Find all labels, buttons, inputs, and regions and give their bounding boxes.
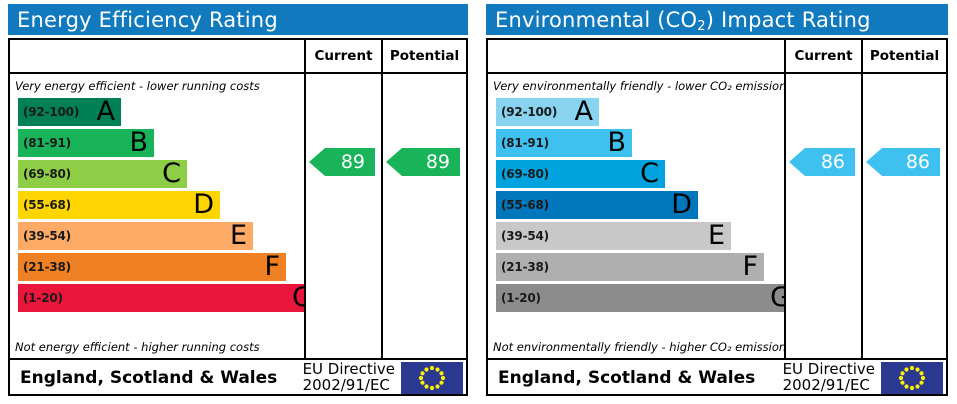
energy-column-header-potential: Potential bbox=[381, 40, 466, 72]
band-g-range: (1-20) bbox=[18, 291, 63, 305]
band-a: (92-100) A bbox=[18, 98, 121, 126]
band-f-range: (21-38) bbox=[18, 260, 71, 274]
band-d: (55-68) D bbox=[18, 191, 220, 219]
co2-band-g-letter: G bbox=[770, 284, 784, 311]
co2-band-c-letter: C bbox=[640, 160, 659, 187]
co2-band-d: (55-68) D bbox=[496, 191, 698, 219]
co2-caption-bottom: Not environmentally friendly - higher CO… bbox=[488, 340, 784, 354]
eu-flag-icon bbox=[401, 362, 463, 394]
co2-band-a-range: (92-100) bbox=[496, 105, 557, 119]
band-g-letter: G bbox=[292, 284, 304, 311]
energy-caption-bottom: Not energy efficient - higher running co… bbox=[10, 340, 260, 354]
band-e-letter: E bbox=[230, 222, 247, 249]
energy-caption-top: Very energy efficient - lower running co… bbox=[10, 79, 260, 93]
co2-band-b-range: (81-91) bbox=[496, 136, 549, 150]
energy-current-value-column: 89 bbox=[304, 74, 381, 358]
band-b-range: (81-91) bbox=[18, 136, 71, 150]
co2-chart-title-bar: Environmental (CO2) Impact Rating bbox=[486, 4, 948, 35]
band-c-range: (69-80) bbox=[18, 167, 71, 181]
energy-header-blank-cell bbox=[10, 40, 304, 72]
band-d-letter: D bbox=[193, 191, 214, 218]
energy-column-header-current: Current bbox=[304, 40, 381, 72]
band-e-range: (39-54) bbox=[18, 229, 71, 243]
co2-band-f-letter: F bbox=[742, 253, 758, 280]
co2-footer-directive: EU Directive 2002/91/EC bbox=[783, 362, 881, 394]
co2-potential-value-column: 86 bbox=[861, 74, 946, 358]
co2-column-header-potential: Potential bbox=[861, 40, 946, 72]
co2-band-e-range: (39-54) bbox=[496, 229, 549, 243]
energy-potential-rating-arrow: 89 bbox=[386, 148, 460, 176]
energy-efficiency-rating-chart: Energy Efficiency Rating Current Potenti… bbox=[0, 0, 478, 404]
co2-potential-rating-value: 86 bbox=[906, 153, 930, 172]
environmental-co2-impact-rating-chart: Environmental (CO2) Impact Rating Curren… bbox=[478, 0, 957, 404]
co2-chart-frame: Current Potential Very environmentally f… bbox=[486, 38, 948, 396]
band-f: (21-38) F bbox=[18, 253, 286, 281]
co2-band-a: (92-100) A bbox=[496, 98, 599, 126]
band-e: (39-54) E bbox=[18, 222, 253, 250]
co2-column-header-current: Current bbox=[784, 40, 861, 72]
co2-band-c-range: (69-80) bbox=[496, 167, 549, 181]
co2-page-title: Environmental (CO2) Impact Rating bbox=[495, 8, 871, 32]
energy-chart-frame: Current Potential Very energy efficient … bbox=[8, 38, 468, 396]
energy-chart-footer: England, Scotland & Wales EU Directive 2… bbox=[10, 360, 466, 396]
band-c: (69-80) C bbox=[18, 160, 187, 188]
epc-charts-container: Energy Efficiency Rating Current Potenti… bbox=[0, 0, 957, 404]
co2-band-g: (1-20) G bbox=[496, 284, 784, 312]
co2-band-d-range: (55-68) bbox=[496, 198, 549, 212]
co2-title-subscript: 2 bbox=[697, 19, 705, 34]
energy-footer-region: England, Scotland & Wales bbox=[10, 368, 303, 388]
band-a-range: (92-100) bbox=[18, 105, 79, 119]
band-a-letter: A bbox=[97, 98, 115, 125]
energy-footer-directive: EU Directive 2002/91/EC bbox=[303, 362, 401, 394]
energy-bands-column: Very energy efficient - lower running co… bbox=[10, 74, 304, 358]
co2-band-f-range: (21-38) bbox=[496, 260, 549, 274]
energy-band-list: (92-100) A (81-91) B (69-80) C (55-68) bbox=[18, 98, 304, 315]
co2-footer-region: England, Scotland & Wales bbox=[488, 368, 783, 388]
co2-title-main: Environmental (CO bbox=[495, 8, 697, 32]
page-title: Energy Efficiency Rating bbox=[17, 8, 278, 32]
energy-chart-body: Very energy efficient - lower running co… bbox=[10, 74, 466, 360]
eu-flag-icon bbox=[881, 362, 943, 394]
band-b-letter: B bbox=[129, 129, 148, 156]
band-b: (81-91) B bbox=[18, 129, 154, 157]
energy-directive-line2: 2002/91/EC bbox=[303, 376, 390, 394]
co2-title-suffix: ) Impact Rating bbox=[706, 8, 871, 32]
co2-band-b: (81-91) B bbox=[496, 129, 632, 157]
band-f-letter: F bbox=[264, 253, 280, 280]
co2-chart-body: Very environmentally friendly - lower CO… bbox=[488, 74, 946, 360]
co2-band-a-letter: A bbox=[575, 98, 593, 125]
band-g: (1-20) G bbox=[18, 284, 304, 312]
band-d-range: (55-68) bbox=[18, 198, 71, 212]
co2-current-rating-arrow: 86 bbox=[789, 148, 855, 176]
co2-potential-rating-arrow: 86 bbox=[866, 148, 940, 176]
co2-current-value-column: 86 bbox=[784, 74, 861, 358]
co2-band-e: (39-54) E bbox=[496, 222, 731, 250]
energy-chart-title-bar: Energy Efficiency Rating bbox=[8, 4, 468, 35]
energy-current-rating-value: 89 bbox=[341, 153, 365, 172]
energy-current-rating-arrow: 89 bbox=[309, 148, 375, 176]
co2-band-d-letter: D bbox=[671, 191, 692, 218]
co2-header-blank-cell bbox=[488, 40, 784, 72]
energy-potential-value-column: 89 bbox=[381, 74, 466, 358]
co2-bands-column: Very environmentally friendly - lower CO… bbox=[488, 74, 784, 358]
co2-caption-top: Very environmentally friendly - lower CO… bbox=[488, 79, 784, 93]
co2-band-b-letter: B bbox=[607, 129, 626, 156]
co2-directive-line2: 2002/91/EC bbox=[783, 376, 870, 394]
energy-potential-rating-value: 89 bbox=[426, 153, 450, 172]
co2-band-f: (21-38) F bbox=[496, 253, 764, 281]
co2-band-g-range: (1-20) bbox=[496, 291, 541, 305]
co2-chart-header-row: Current Potential bbox=[488, 40, 946, 74]
co2-band-c: (69-80) C bbox=[496, 160, 665, 188]
energy-chart-header-row: Current Potential bbox=[10, 40, 466, 74]
co2-chart-footer: England, Scotland & Wales EU Directive 2… bbox=[488, 360, 946, 396]
band-c-letter: C bbox=[162, 160, 181, 187]
co2-band-list: (92-100) A (81-91) B (69-80) C (55-68) bbox=[496, 98, 784, 315]
co2-band-e-letter: E bbox=[708, 222, 725, 249]
co2-current-rating-value: 86 bbox=[821, 153, 845, 172]
